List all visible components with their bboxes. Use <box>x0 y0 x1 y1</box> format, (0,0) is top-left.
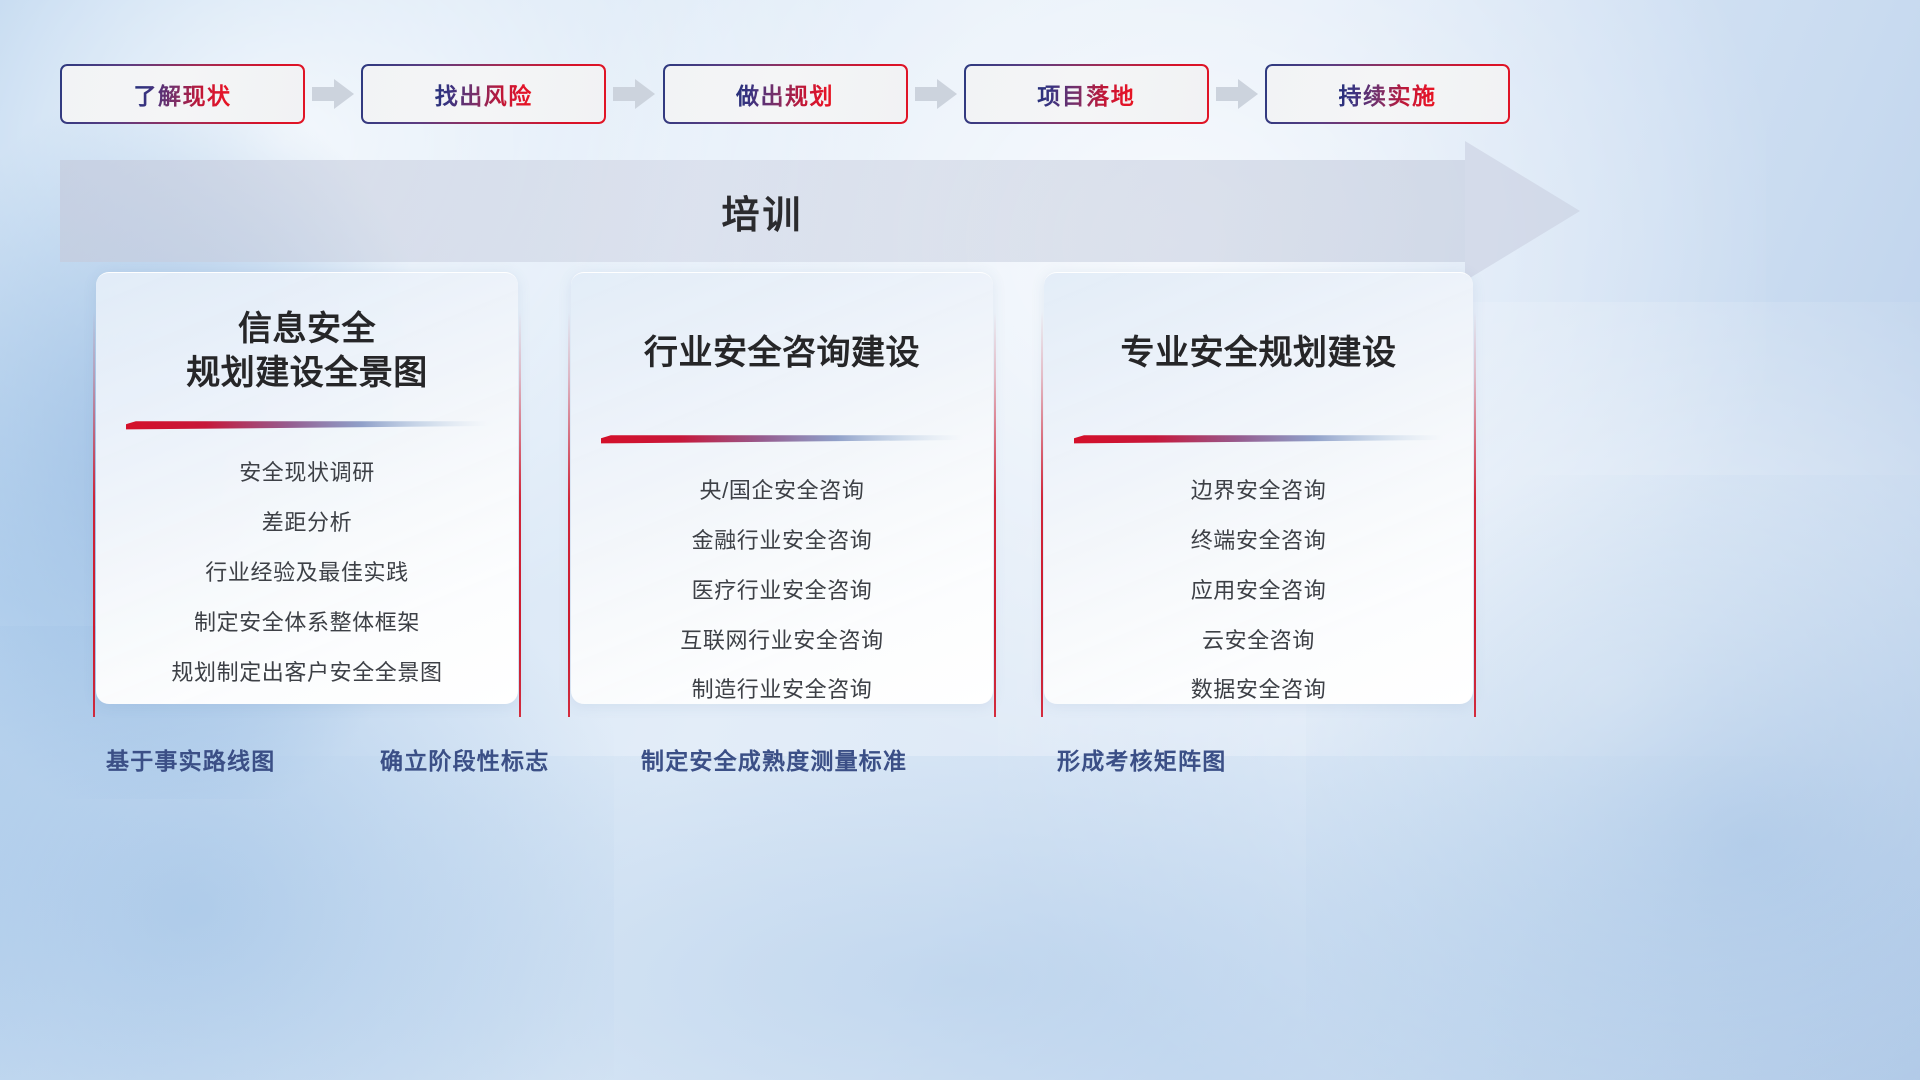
arrow-right-icon <box>915 79 957 109</box>
card-title-line-2: 规划建设全景图 <box>96 351 518 395</box>
arrow-right-icon <box>312 79 354 109</box>
step-chip-5[interactable]: 持续实施 <box>1265 64 1510 124</box>
list-item: 行业经验及最佳实践 <box>205 552 408 594</box>
divider-wedge-icon <box>126 421 488 430</box>
step-chip-5-label: 持续实施 <box>1339 77 1437 111</box>
card-title-line-1: 信息安全 <box>96 307 518 351</box>
list-item: 央/国企安全咨询 <box>700 470 865 512</box>
outcome-label-4: 形成考核矩阵图 <box>1057 742 1226 776</box>
step-chip-2[interactable]: 找出风险 <box>361 64 606 124</box>
list-item: 制造行业安全咨询 <box>692 669 873 704</box>
background-shade-bottom <box>0 756 1920 1080</box>
card-rail-left <box>1041 312 1043 717</box>
divider-wedge-icon <box>601 435 963 444</box>
divider-wedge-icon <box>1074 435 1443 444</box>
arrow-right-icon <box>613 79 655 109</box>
card-rail-left <box>93 312 95 717</box>
step-chip-3[interactable]: 做出规划 <box>663 64 908 124</box>
step-chip-4[interactable]: 项目落地 <box>964 64 1209 124</box>
card-item-list: 边界安全咨询 终端安全咨询 应用安全咨询 云安全咨询 数据安全咨询 <box>1044 470 1473 704</box>
step-chip-3-label: 做出规划 <box>736 77 834 111</box>
list-item: 差距分析 <box>262 502 352 544</box>
card-rail-right <box>994 312 996 717</box>
outcome-label-1: 基于事实路线图 <box>106 742 275 776</box>
step-arrow-1 <box>305 77 361 111</box>
training-band-title: 培训 <box>60 160 1465 262</box>
list-item: 云安全咨询 <box>1202 620 1315 662</box>
step-chip-1-label: 了解现状 <box>134 77 232 111</box>
step-chip-1[interactable]: 了解现状 <box>60 64 305 124</box>
card-title-line-1: 专业安全规划建设 <box>1044 331 1473 375</box>
list-item: 数据安全咨询 <box>1191 669 1327 704</box>
list-item: 边界安全咨询 <box>1191 470 1327 512</box>
card-rail-right <box>1474 312 1476 717</box>
list-item: 应用安全咨询 <box>1191 570 1327 612</box>
card-title: 行业安全咨询建设 <box>571 273 993 375</box>
arrow-right-icon <box>1216 79 1258 109</box>
outcome-label-row: 基于事实路线图 确立阶段性标志 制定安全成熟度测量标准 形成考核矩阵图 <box>0 742 1920 792</box>
card-industry-security-consulting[interactable]: 行业安全咨询建设 <box>571 272 993 704</box>
card-wrapper-1: 信息安全 规划建设全景图 <box>93 272 521 717</box>
card-rail-right <box>519 312 521 717</box>
card-divider <box>601 435 963 444</box>
list-item: 制定安全体系整体框架 <box>194 602 420 644</box>
step-arrow-2 <box>606 77 662 111</box>
card-title: 信息安全 规划建设全景图 <box>96 273 518 395</box>
step-chip-2-label: 找出风险 <box>435 77 533 111</box>
process-step-flow: 了解现状 找出风险 做出规划 项目落地 持续实施 <box>60 64 1510 124</box>
list-item: 医疗行业安全咨询 <box>692 570 873 612</box>
step-chip-4-label: 项目落地 <box>1037 77 1135 111</box>
card-wrapper-2: 行业安全咨询建设 <box>568 272 996 717</box>
card-item-list: 安全现状调研 差距分析 行业经验及最佳实践 制定安全体系整体框架 规划制定出客户… <box>96 452 518 693</box>
card-item-list: 央/国企安全咨询 金融行业安全咨询 医疗行业安全咨询 互联网行业安全咨询 制造行… <box>571 470 993 704</box>
card-divider <box>126 421 488 430</box>
card-rail-left <box>568 312 570 717</box>
outcome-label-3: 制定安全成熟度测量标准 <box>641 742 907 776</box>
step-arrow-4 <box>1209 77 1265 111</box>
list-item: 安全现状调研 <box>239 452 375 494</box>
list-item: 规划制定出客户安全全景图 <box>171 652 442 694</box>
list-item: 终端安全咨询 <box>1191 520 1327 562</box>
card-information-security-blueprint[interactable]: 信息安全 规划建设全景图 <box>96 272 518 704</box>
card-professional-security-planning[interactable]: 专业安全规划建设 <box>1044 272 1473 704</box>
card-title: 专业安全规划建设 <box>1044 273 1473 375</box>
card-title-line-1: 行业安全咨询建设 <box>571 331 993 375</box>
card-wrapper-3: 专业安全规划建设 <box>1041 272 1476 717</box>
training-band-arrowhead-icon <box>1465 141 1580 281</box>
card-row: 信息安全 规划建设全景图 <box>0 272 1920 717</box>
step-arrow-3 <box>908 77 964 111</box>
list-item: 互联网行业安全咨询 <box>680 620 883 662</box>
outcome-label-2: 确立阶段性标志 <box>380 742 549 776</box>
list-item: 金融行业安全咨询 <box>692 520 873 562</box>
card-divider <box>1074 435 1443 444</box>
training-band: 培训 <box>60 160 1520 262</box>
